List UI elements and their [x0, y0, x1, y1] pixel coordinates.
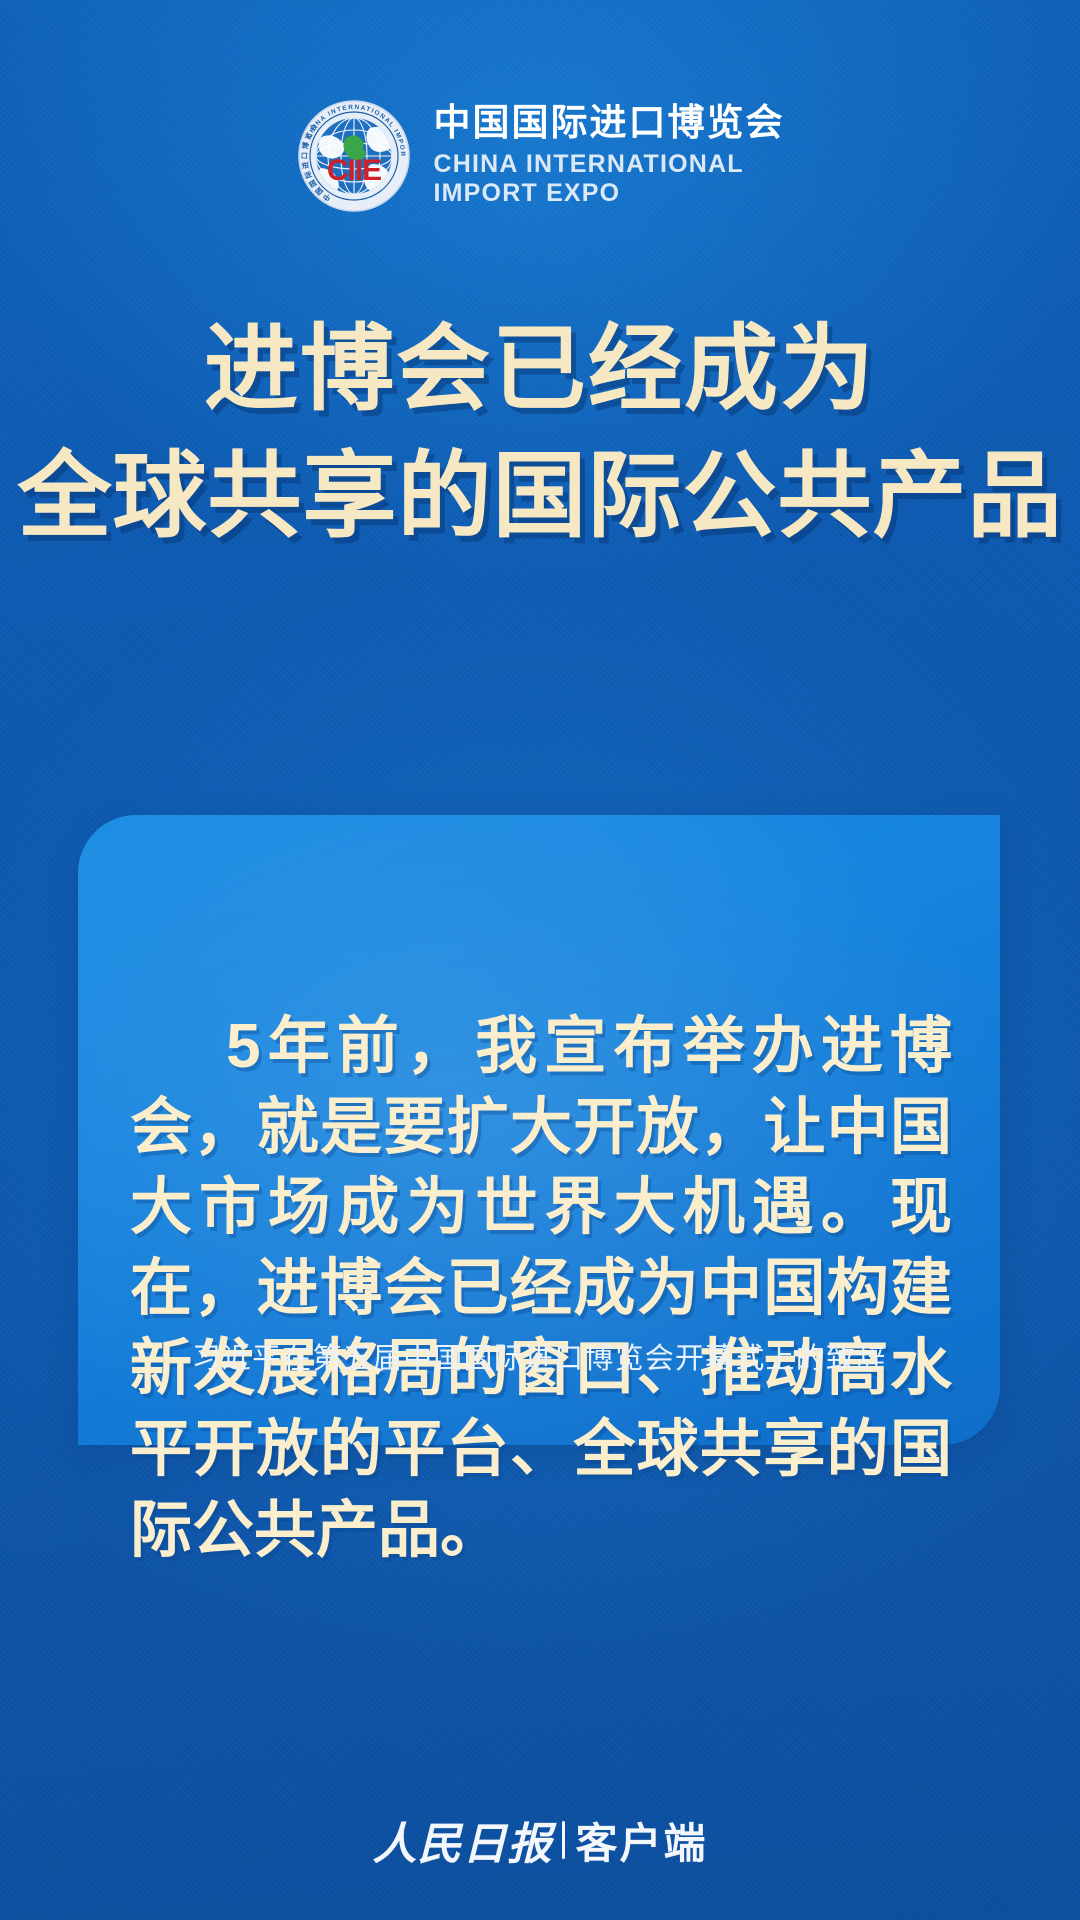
logo-title-en-line2: IMPORT EXPO: [434, 179, 785, 209]
headline-line-1: 进博会已经成为: [0, 312, 1080, 427]
footer-app-label: 客户端: [575, 1810, 707, 1871]
quote-attribution: 习近平在第五届中国国际进口博览会开幕式上的致辞: [78, 1335, 1000, 1377]
quote-text-content: 5年前，我宣布举办进博会，就是要扩大开放，让中国大市场成为世界大机遇。现在，进博…: [130, 1012, 952, 1565]
logo-title-en: CHINA INTERNATIONAL IMPORT EXPO: [434, 150, 785, 209]
footer-divider: [562, 1821, 565, 1859]
ciie-logo-text: 中国国际进口博览会 CHINA INTERNATIONAL IMPORT EXP…: [434, 104, 785, 209]
poster-canvas: CIIE CHINA INTERNATIONAL IMPORT EXPO 中国国…: [0, 0, 1080, 1920]
ciie-logo-block: CIIE CHINA INTERNATIONAL IMPORT EXPO 中国国…: [0, 0, 1080, 216]
quote-text: 5年前，我宣布举办进博会，就是要扩大开放，让中国大市场成为世界大机遇。现在，进博…: [130, 1007, 952, 1571]
footer-brand-block: 人民日报 客户端: [0, 1808, 1080, 1872]
svg-text:CIIE: CIIE: [326, 154, 380, 187]
logo-title-cn: 中国国际进口博览会: [434, 104, 785, 141]
headline-line-2: 全球共享的国际公共产品: [0, 439, 1080, 554]
ciie-globe-emblem: CIIE CHINA INTERNATIONAL IMPORT EXPO 中国国…: [296, 98, 412, 214]
peoples-daily-wordmark: 人民日报: [372, 1808, 552, 1872]
logo-title-en-line1: CHINA INTERNATIONAL: [434, 150, 785, 180]
headline: 进博会已经成为 全球共享的国际公共产品: [0, 312, 1080, 553]
quote-card: 5年前，我宣布举办进博会，就是要扩大开放，让中国大市场成为世界大机遇。现在，进博…: [78, 815, 1000, 1445]
